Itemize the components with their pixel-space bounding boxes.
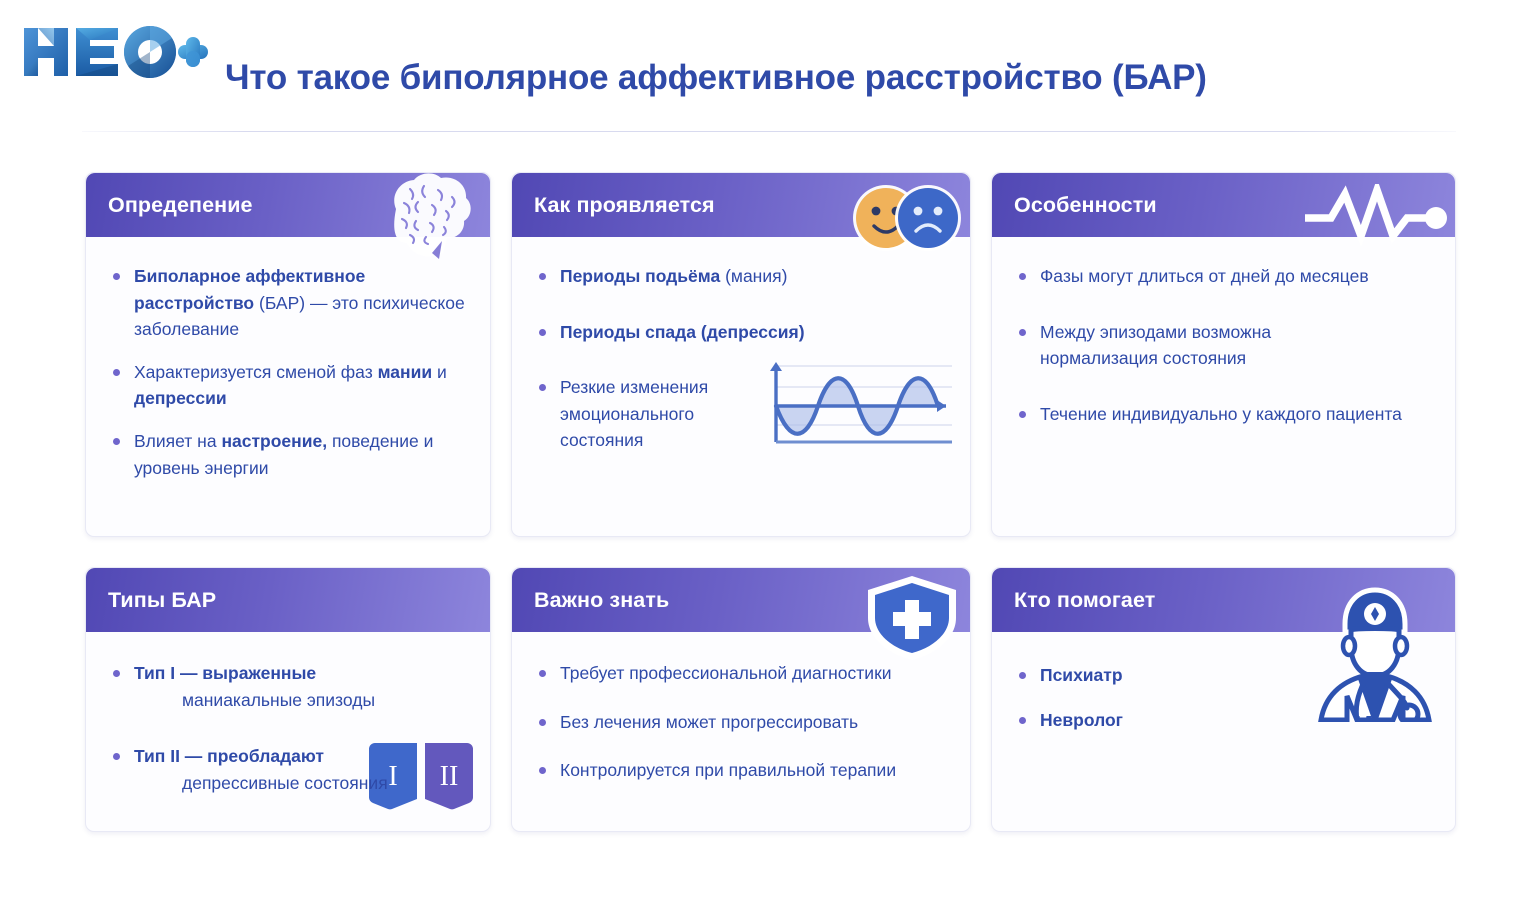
cards-grid: Опредепение Биполарное аффективное расст… [85, 172, 1456, 832]
card-who-helps-header: Кто помогает [992, 568, 1455, 632]
card-manifestation: Как проявляется Периоды подьёма (мания) … [511, 172, 971, 537]
list-item: Тип I — выраженные маниакальные эпизоды [108, 660, 466, 713]
header-divider [82, 131, 1456, 132]
card-important: Важно знать Требует профессиональной диа… [511, 567, 971, 832]
list-item: Периоды спада (депрессия) [534, 319, 946, 346]
list-item: Резкие изменения эмоционального состояни… [534, 374, 766, 454]
page-title: Что такое биполярное аффективное расстро… [225, 58, 1207, 98]
card-manifestation-title: Как проявляется [534, 193, 715, 218]
page-header: Что такое биполярное аффективное расстро… [0, 0, 1536, 132]
list-item: Невролог [1014, 707, 1431, 734]
card-important-header: Важно знать [512, 568, 970, 632]
card-important-bullets: Требует профессиональной диагностики Без… [534, 660, 946, 784]
card-who-helps-bullets: Психиатр Невролог [1014, 662, 1431, 733]
list-item: Тип II — преобладают депрессивные состоя… [108, 743, 466, 796]
list-item: Течение индивидуально у каждого пациента [1014, 401, 1431, 428]
card-features-title: Особенности [1014, 193, 1157, 218]
list-item: Характеризуется сменой фаз мании и депре… [108, 359, 466, 412]
card-types-title: Типы БАР [108, 588, 216, 613]
card-definition: Опредепение Биполарное аффективное расст… [85, 172, 491, 537]
list-item: Без лечения может прогрессировать [534, 709, 946, 736]
list-item: Влияет на настроение, поведение и уровен… [108, 428, 466, 481]
card-definition-title: Опредепение [108, 193, 253, 218]
list-item: Периоды подьёма (мания) [534, 263, 946, 290]
card-definition-header: Опредепение [86, 173, 490, 237]
card-features-bullets: Фазы могут длиться от дней до месяцев Ме… [1014, 263, 1431, 427]
card-who-helps: Кто помогает Психиатр Невролог [991, 567, 1456, 832]
card-important-title: Важно знать [534, 588, 669, 613]
card-features-header: Особенности [992, 173, 1455, 237]
card-manifestation-header: Как проявляется [512, 173, 970, 237]
card-who-helps-title: Кто помогает [1014, 588, 1155, 613]
card-definition-bullets: Биполарное аффективное расстройство (БАР… [108, 263, 466, 481]
card-types-header: Типы БАР [86, 568, 490, 632]
list-item: Контролируется при правильной терапии [534, 757, 946, 784]
list-item: Психиатр [1014, 662, 1431, 689]
list-item: Между эпизодами возможна нормализация со… [1014, 319, 1314, 372]
card-features: Особенности Фазы могут длиться от дней д… [991, 172, 1456, 537]
card-types-bullets: Тип I — выраженные маниакальные эпизоды … [108, 660, 466, 796]
card-manifestation-bullets: Периоды подьёма (мания) Периоды спада (д… [534, 263, 946, 454]
list-item: Биполарное аффективное расстройство (БАР… [108, 263, 466, 343]
neo-plus-logo[interactable] [18, 20, 208, 82]
card-types: Типы БАР Тип I — выраженные маниакальные… [85, 567, 491, 832]
list-item: Фазы могут длиться от дней до месяцев [1014, 263, 1431, 290]
list-item: Требует профессиональной диагностики [534, 660, 946, 687]
